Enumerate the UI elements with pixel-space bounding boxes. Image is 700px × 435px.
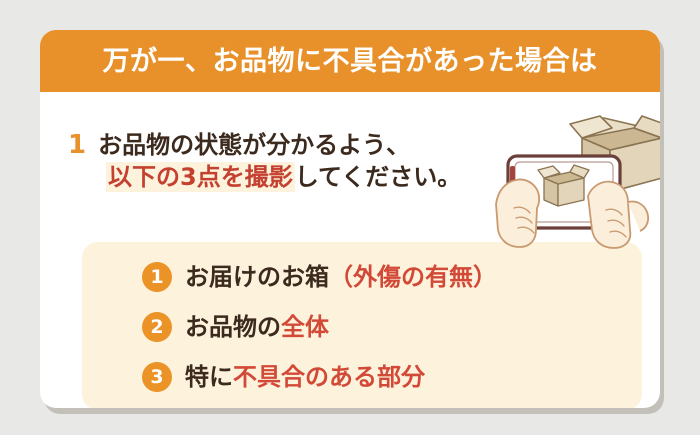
list-item-text-accent-3: 不具合のある部分 xyxy=(233,363,425,391)
list-badge-1: 1 xyxy=(142,262,172,292)
list-item-text-plain-2: お品物の xyxy=(185,313,281,341)
list-item-text-plain-1: お届けのお箱 xyxy=(185,263,329,291)
list-item: 2 お品物の全体 xyxy=(142,305,497,349)
list-badge-2: 2 xyxy=(142,312,172,342)
list-item-text-accent-2: 全体 xyxy=(281,313,329,341)
card-body: 1 お品物の状態が分かるよう、 以下の3点を撮影してください。 1 お届けのお箱… xyxy=(40,92,660,408)
step-number: 1 xyxy=(68,128,86,162)
notice-card: 万が一、お品物に不具合があった場合は 1 お品物の状態が分かるよう、 以下の3点… xyxy=(40,30,660,408)
screenshot-stage: 万が一、お品物に不具合があった場合は 1 お品物の状態が分かるよう、 以下の3点… xyxy=(0,0,700,435)
list-badge-3: 3 xyxy=(142,362,172,392)
list-item-text-accent-1: （外傷の有無） xyxy=(329,263,497,291)
step-line-2: 以下の3点を撮影してください。 xyxy=(106,162,538,194)
list-item: 1 お届けのお箱（外傷の有無） xyxy=(142,255,497,299)
list-item-text-2: お品物の全体 xyxy=(185,315,329,339)
step-text-tail: してください。 xyxy=(295,163,462,191)
list-item-text-plain-3: 特に xyxy=(185,363,233,391)
left-hand xyxy=(496,179,539,247)
card-header: 万が一、お品物に不具合があった場合は xyxy=(40,30,660,92)
list-item-text-1: お届けのお箱（外傷の有無） xyxy=(185,265,497,289)
right-hand xyxy=(588,182,648,248)
step-block: 1 お品物の状態が分かるよう、 以下の3点を撮影してください。 xyxy=(68,128,538,194)
page-title: 万が一、お品物に不具合があった場合は xyxy=(103,48,598,75)
photo-checklist: 1 お届けのお箱（外傷の有無） 2 お品物の全体 3 特に不具合のある部分 xyxy=(142,255,497,399)
step-line-1: 1 お品物の状態が分かるよう、 xyxy=(68,128,538,162)
tablet-photo-illustration xyxy=(492,104,660,249)
list-item-text-3: 特に不具合のある部分 xyxy=(185,365,425,389)
list-item: 3 特に不具合のある部分 xyxy=(142,355,497,399)
step-text-line-1: お品物の状態が分かるよう、 xyxy=(98,130,410,162)
photo-checklist-panel: 1 お届けのお箱（外傷の有無） 2 お品物の全体 3 特に不具合のある部分 xyxy=(82,242,642,408)
step-highlight-text: 以下の3点を撮影 xyxy=(106,162,295,192)
